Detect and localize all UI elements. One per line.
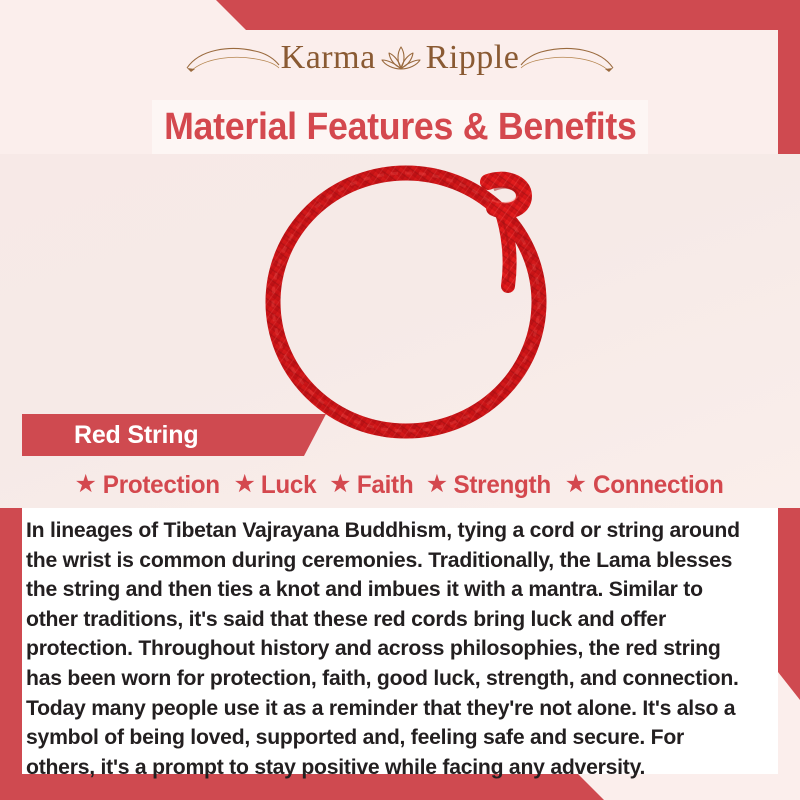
star-icon: ★ xyxy=(565,472,587,497)
feature-tags-row: ★ Protection ★ Luck ★ Faith ★ Strength ★… xyxy=(22,464,778,506)
description-panel: In lineages of Tibetan Vajrayana Buddhis… xyxy=(22,508,778,774)
brand-logo: Karma Ripple xyxy=(185,38,616,78)
feature-tag-protection: ★ Protection xyxy=(70,471,227,500)
description-paragraph: In lineages of Tibetan Vajrayana Buddhis… xyxy=(26,516,745,782)
page-title-banner: Material Features & Benefits xyxy=(152,100,648,154)
feature-label-faith: Faith xyxy=(356,471,412,500)
feature-label-connection: Connection xyxy=(593,471,723,500)
feature-label-protection: Protection xyxy=(103,471,220,500)
star-icon: ★ xyxy=(329,472,351,497)
star-icon: ★ xyxy=(234,472,256,497)
feature-label-strength: Strength xyxy=(454,471,551,500)
page-title: Material Features & Benefits xyxy=(164,106,636,149)
material-label: Red String xyxy=(74,421,198,450)
swash-flourish-left-icon xyxy=(185,38,281,78)
infographic-page: Karma Ripple Material Features & Benefit… xyxy=(0,0,800,800)
star-icon: ★ xyxy=(75,472,97,497)
feature-tag-strength: ★ Strength xyxy=(421,471,558,500)
lotus-icon xyxy=(378,38,424,78)
feature-label-luck: Luck xyxy=(261,471,316,500)
red-string-bracelet-image xyxy=(256,154,576,454)
star-icon: ★ xyxy=(426,472,448,497)
feature-tag-luck: ★ Luck xyxy=(229,471,323,500)
feature-tag-connection: ★ Connection xyxy=(560,471,731,500)
feature-tag-faith: ★ Faith xyxy=(324,471,419,500)
brand-name-right: Ripple xyxy=(426,39,520,77)
swash-flourish-right-icon xyxy=(519,38,615,78)
brand-logo-area: Karma Ripple xyxy=(0,0,800,100)
material-label-banner: Red String xyxy=(22,414,326,456)
brand-name-left: Karma xyxy=(281,39,376,77)
